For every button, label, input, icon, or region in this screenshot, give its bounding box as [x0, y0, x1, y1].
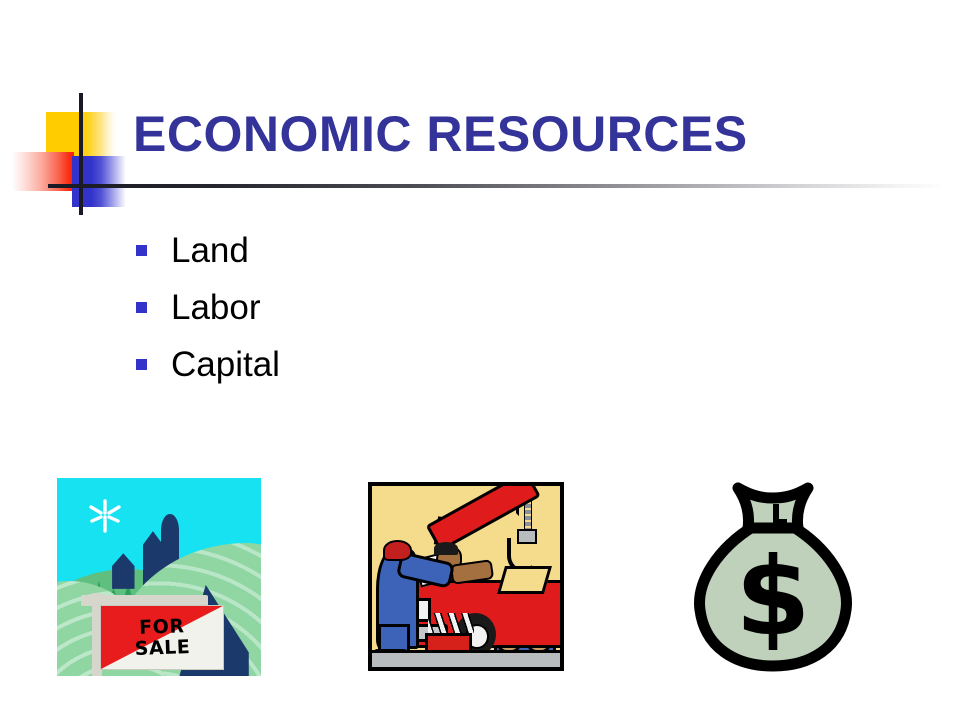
- car-windshield: [497, 566, 552, 594]
- list-item-label: Land: [171, 231, 249, 271]
- sign-text-line-1: FOR: [139, 616, 185, 639]
- sign-text-block: FOR SALE: [100, 604, 225, 672]
- deco-vertical-rule: [79, 93, 83, 215]
- deco-horizontal-rule: [48, 184, 948, 188]
- list-item: Capital: [136, 336, 736, 393]
- mechanic-two-hair: [434, 542, 458, 555]
- shed-silhouette-icon: [112, 553, 134, 589]
- money-bag-icon: $: [688, 474, 858, 672]
- square-bullet-icon: [136, 359, 147, 370]
- list-item: Labor: [136, 279, 736, 336]
- sky-background: FOR SALE: [57, 478, 261, 676]
- list-item: Land: [136, 222, 736, 279]
- clipart-capital-money-bag: $: [688, 474, 858, 672]
- dollar-sign-glyph: $: [735, 535, 810, 660]
- square-bullet-icon: [136, 302, 147, 313]
- square-bullet-icon: [136, 245, 147, 256]
- garage-scene-frame: [368, 482, 564, 671]
- slide-title: ECONOMIC RESOURCES: [133, 105, 913, 163]
- clipart-labor-auto-mechanics: [368, 482, 564, 671]
- mechanic-one-cap: [383, 540, 411, 560]
- list-item-label: Labor: [171, 288, 261, 328]
- garage-floor: [372, 650, 560, 667]
- bullet-list: Land Labor Capital: [136, 222, 736, 393]
- sparkle-icon: [84, 494, 126, 536]
- for-sale-sign-board: FOR SALE: [100, 605, 224, 670]
- list-item-label: Capital: [171, 345, 280, 385]
- sign-text-line-2: SALE: [134, 636, 190, 659]
- clipart-land-for-sale-sign: FOR SALE: [57, 478, 261, 676]
- slide-canvas: ECONOMIC RESOURCES Land Labor Capital: [0, 0, 960, 720]
